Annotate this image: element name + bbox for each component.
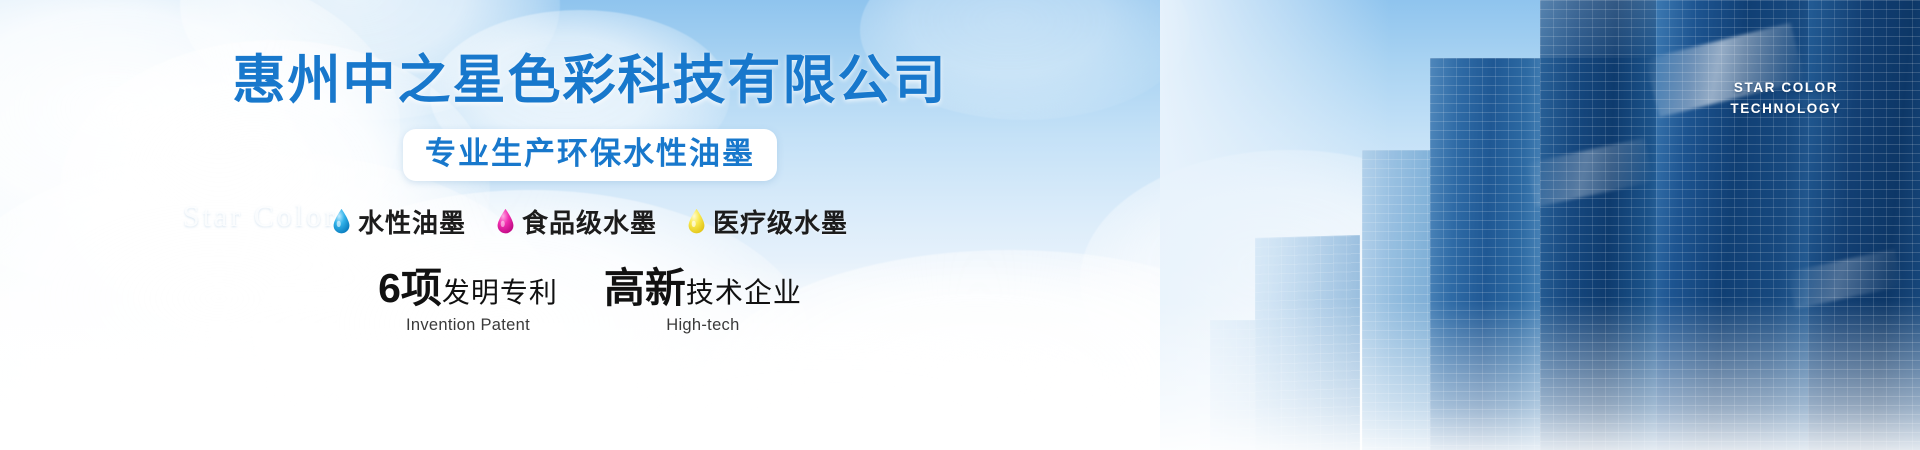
credential-badges: 6项 发明专利 Invention Patent 高新 技术企业 High-te… [378, 268, 802, 335]
city-skyline-photo [1160, 0, 1920, 450]
badge-english-label: High-tech [604, 316, 802, 335]
company-headline: 惠州中之星色彩科技有限公司 [233, 54, 948, 107]
roof-highlight [1540, 0, 1672, 58]
subtitle-text: 专业生产环保水性油墨 [425, 136, 755, 172]
building-right-edge [1808, 0, 1920, 450]
badge-chinese-line: 高新 技术企业 [604, 268, 802, 309]
subtitle-pill: 专业生产环保水性油墨 [403, 129, 777, 181]
badge-high-tech: 高新 技术企业 High-tech [604, 268, 802, 335]
glass-grid [1255, 235, 1360, 450]
glass-grid [1808, 0, 1920, 450]
water-drop-icon [332, 208, 351, 235]
glass-brand-line-2: TECHNOLOGY [1696, 99, 1876, 120]
badge-strong-text: 高新 [604, 268, 686, 309]
glass-grid [1430, 58, 1548, 450]
badge-chinese-line: 6项 发明专利 [378, 268, 558, 309]
badge-english-label: Invention Patent [378, 316, 558, 335]
badge-rest-text: 发明专利 [442, 279, 558, 307]
feature-list: 水性油墨 食品级水墨 [332, 203, 848, 240]
feature-label: 医疗级水墨 [713, 203, 848, 240]
feature-item-food-grade-ink: 食品级水墨 [496, 203, 657, 240]
water-drop-icon [687, 208, 706, 235]
glass-brand-line-1: STAR COLOR [1696, 78, 1876, 99]
feature-item-water-ink: 水性油墨 [332, 203, 466, 240]
badge-strong-text: 6项 [378, 268, 442, 309]
building-far-1 [1255, 235, 1360, 450]
feature-item-medical-grade-ink: 医疗级水墨 [687, 203, 848, 240]
building-mid-tower [1430, 58, 1548, 450]
feature-label: 水性油墨 [358, 203, 466, 240]
company-hero-banner: Star Color STAR COLOR TECHNOLOGY 惠州中之星色彩… [0, 0, 1920, 450]
banner-content: 惠州中之星色彩科技有限公司 专业生产环保水性油墨 水性油 [0, 0, 1180, 450]
badge-invention-patent: 6项 发明专利 Invention Patent [378, 268, 558, 335]
water-drop-icon [496, 208, 515, 235]
feature-label: 食品级水墨 [522, 203, 657, 240]
glass-brand-label: STAR COLOR TECHNOLOGY [1696, 78, 1876, 120]
badge-rest-text: 技术企业 [686, 279, 802, 307]
